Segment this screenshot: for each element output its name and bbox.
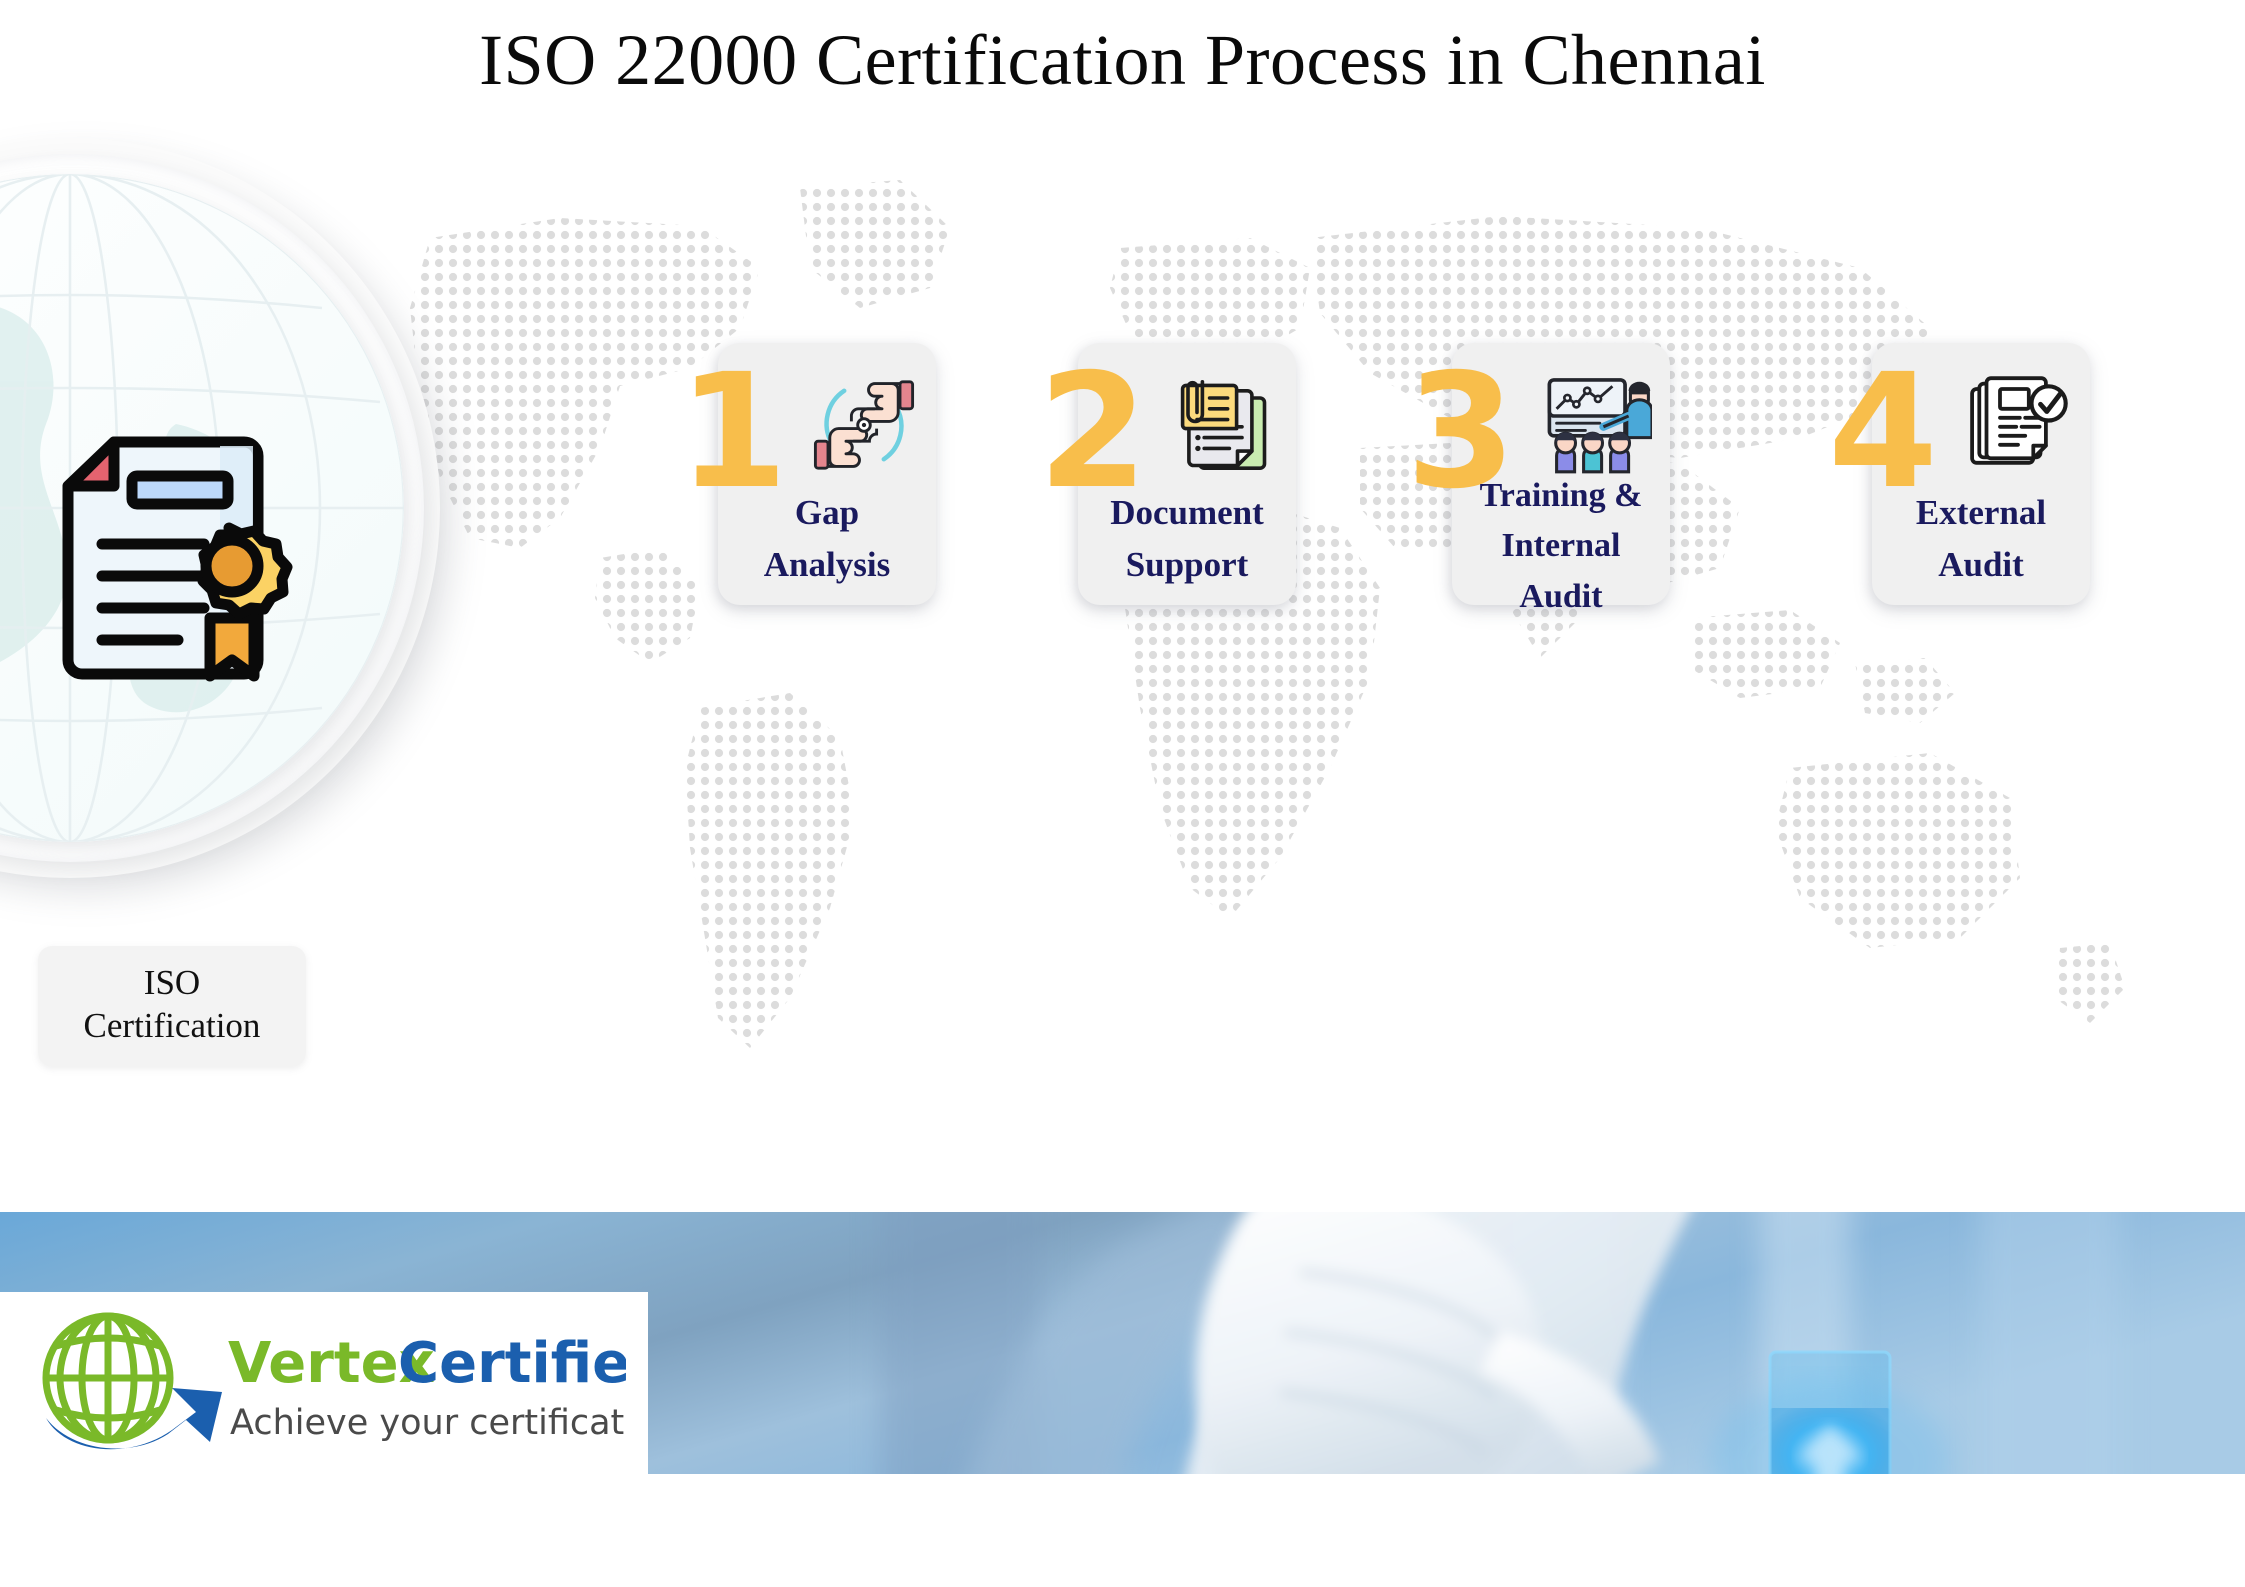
bottom-white-strip [0,1474,2245,1587]
handshake-collaboration-icon [810,371,918,479]
page-title: ISO 22000 Certification Process in Chenn… [0,22,2245,100]
step-label-1: Gap Analysis [718,487,936,591]
logo-brand-part2: Certifiers [398,1331,626,1396]
step-label-4: External Audit [1872,487,2090,591]
hero-stage: ISO Certification 1 Gap Analysis 2 [0,118,2245,1210]
step-label-3: Training & Internal Audit [1452,471,1670,622]
documents-paperclip-icon [1170,371,1278,479]
footer-banner: Vertex Certifiers Achieve your certifica… [0,1212,2245,1474]
step-card-gap-analysis[interactable]: 1 Gap Analysis [718,343,936,605]
iso-label-line1: ISO [144,963,200,1002]
step-card-external-audit[interactable]: 4 External Audit [1872,343,2090,605]
certificate-document-icon [60,436,298,682]
iso-certification-label: ISO Certification [38,946,306,1067]
globe-arrow-logo-icon: Vertex Certifiers Achieve your certifica… [26,1306,626,1462]
step-card-training-internal-audit[interactable]: 3 [1452,343,1670,605]
documents-checkmark-icon [1964,371,2072,479]
training-presentation-icon [1544,371,1652,479]
company-logo-box: Vertex Certifiers Achieve your certifica… [0,1292,648,1474]
step-card-document-support[interactable]: 2 Document Support [1078,343,1296,605]
step-label-2: Document Support [1078,487,1296,591]
logo-tagline: Achieve your certifications! [230,1403,626,1443]
iso-label-line2: Certification [48,1005,296,1048]
